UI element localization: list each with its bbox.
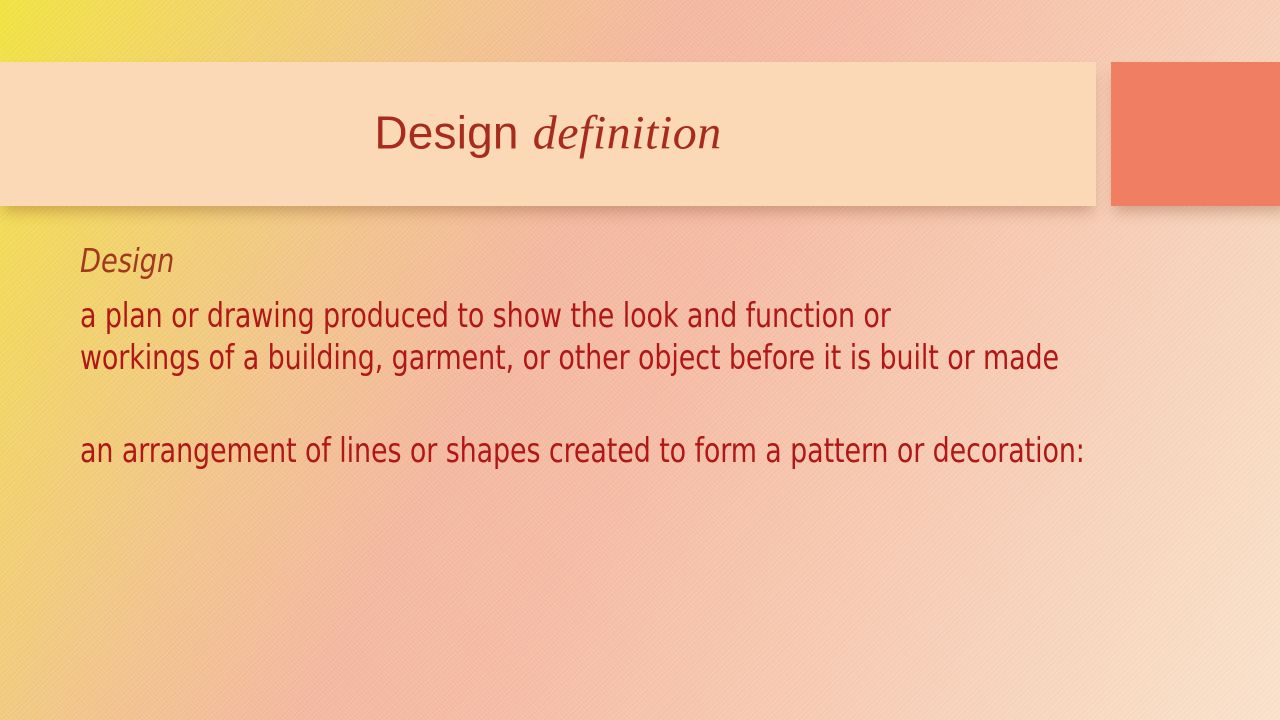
definition-line: workings of a building, garment, or othe… [80, 338, 1057, 379]
definition-line: a plan or drawing produced to show the l… [80, 296, 1057, 337]
title-main-word: Design [374, 107, 518, 159]
definition-paragraph-1: a plan or drawing produced to show the l… [80, 296, 1057, 379]
page-title: Designdefinition [0, 108, 1096, 161]
decorative-accent-block [1111, 62, 1280, 206]
definition-line: an arrangement of lines or shapes create… [80, 431, 1057, 472]
slide-body: Design a plan or drawing produced to sho… [80, 240, 1190, 473]
slide: Designdefinition Design a plan or drawin… [0, 0, 1280, 720]
definition-paragraph-2: an arrangement of lines or shapes create… [80, 431, 1057, 472]
body-heading: Design [80, 240, 1101, 282]
title-accent-word: definition [533, 107, 722, 160]
slide-title-band: Designdefinition [0, 62, 1096, 206]
